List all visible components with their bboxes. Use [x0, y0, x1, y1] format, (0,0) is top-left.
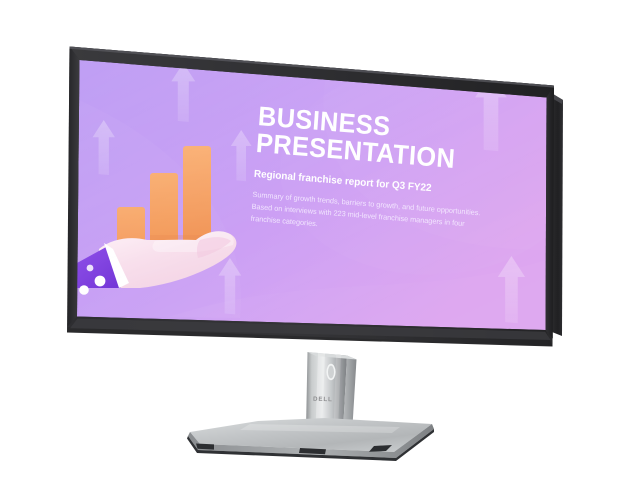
- product-photo-scene: BUSINESS PRESENTATION Regional franchise…: [0, 0, 640, 480]
- dell-monitor: [0, 0, 640, 480]
- monitor-stand-base: [187, 418, 434, 461]
- base-foot: [196, 444, 214, 450]
- dell-logo: DELL: [313, 396, 333, 404]
- monitor-screen: [77, 60, 580, 332]
